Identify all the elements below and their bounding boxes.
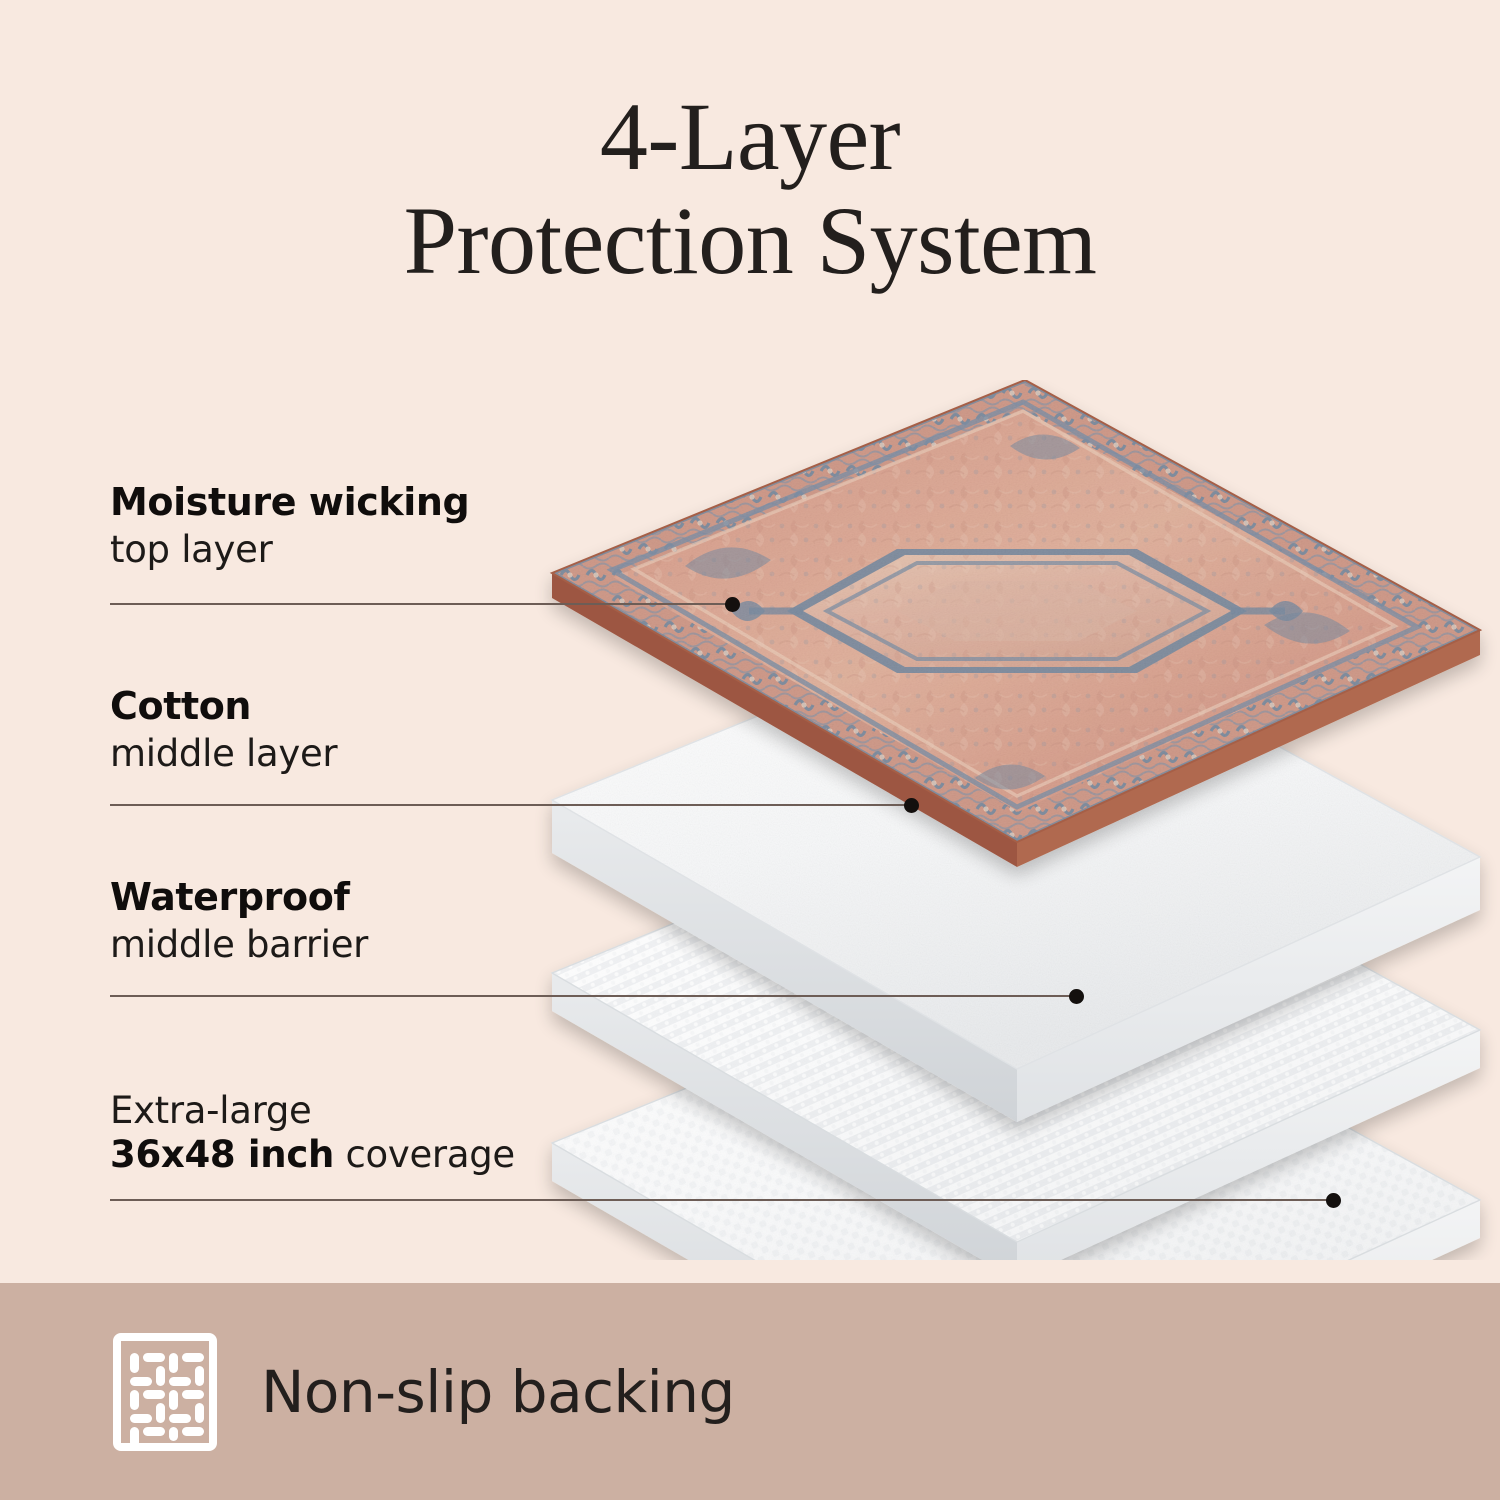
size-suffix: coverage: [334, 1133, 515, 1176]
callout-cotton: Cotton middle layer: [110, 685, 337, 776]
page-title: 4-Layer Protection System: [0, 88, 1500, 290]
callout-subtitle: middle layer: [110, 732, 337, 776]
size-line-1: Extra-large: [110, 1089, 515, 1133]
leader-line-cotton: [110, 804, 910, 806]
leader-dot-size-coverage: [1326, 1193, 1341, 1208]
non-slip-grid-icon: [113, 1333, 217, 1451]
title-line-1: 4-Layer: [0, 88, 1500, 186]
infographic-page: 4-Layer Protection System: [0, 0, 1500, 1500]
title-line-2: Protection System: [0, 192, 1500, 290]
callout-subtitle: middle barrier: [110, 923, 368, 967]
layer-stack-illustration: [505, 380, 1500, 1260]
callout-size-coverage: Extra-large 36x48 inch coverage: [110, 1085, 515, 1178]
leader-dot-cotton: [904, 798, 919, 813]
stack-svg: [505, 380, 1500, 1260]
callout-moisture-wicking: Moisture wicking top layer: [110, 481, 469, 572]
callout-heading: Cotton: [110, 685, 337, 728]
banner-content: Non-slip backing: [113, 1333, 735, 1451]
leader-dot-moisture-wicking: [725, 597, 740, 612]
non-slip-banner: Non-slip backing: [0, 1283, 1500, 1500]
banner-label: Non-slip backing: [261, 1358, 735, 1426]
size-value: 36x48 inch: [110, 1133, 334, 1176]
size-line-2: 36x48 inch coverage: [110, 1133, 515, 1177]
leader-line-size-coverage: [110, 1199, 1332, 1201]
leader-dot-waterproof: [1069, 989, 1084, 1004]
callout-subtitle: top layer: [110, 528, 469, 572]
callout-heading: Moisture wicking: [110, 481, 469, 524]
leader-line-moisture-wicking: [110, 603, 732, 605]
callout-waterproof: Waterproof middle barrier: [110, 876, 368, 967]
leader-line-waterproof: [110, 995, 1075, 997]
callout-heading: Waterproof: [110, 876, 368, 919]
